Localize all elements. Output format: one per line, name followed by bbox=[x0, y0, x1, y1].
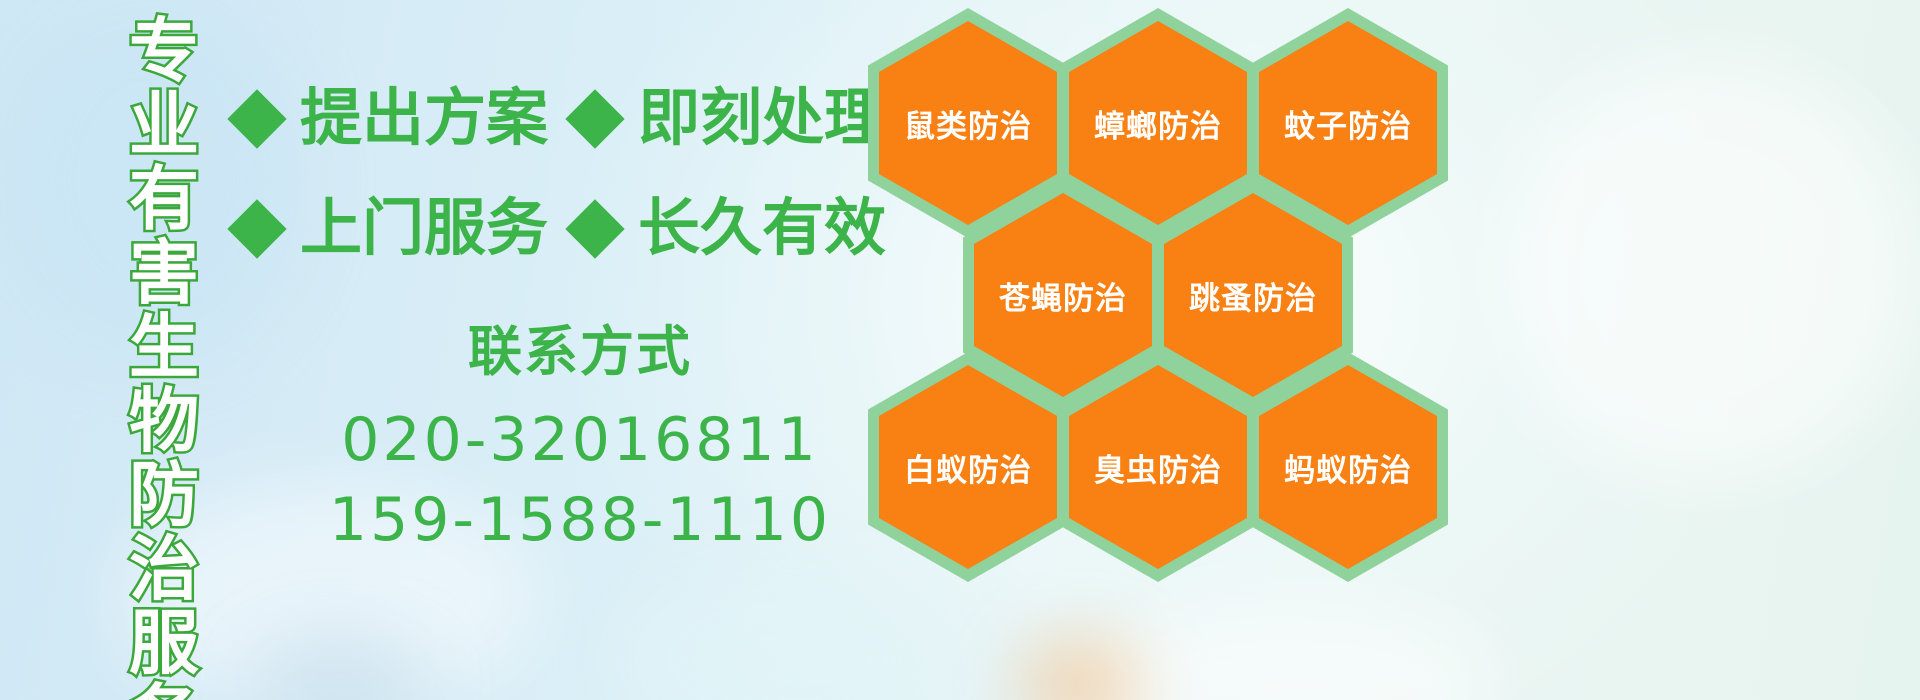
diamond-icon bbox=[565, 199, 624, 258]
service-hex-label: 蟑螂防治 bbox=[1094, 101, 1222, 146]
hex-inner: 蟑螂防治 bbox=[1069, 21, 1247, 225]
vertical-headline-char: 专 bbox=[129, 14, 199, 88]
service-hex-label: 鼠类防治 bbox=[904, 101, 1032, 146]
hex-inner: 跳蚤防治 bbox=[1164, 193, 1342, 397]
vertical-headline-char: 防 bbox=[129, 458, 199, 532]
service-hex-label: 蚊子防治 bbox=[1284, 101, 1412, 146]
feature-line-2: 上门服务 长久有效 bbox=[236, 198, 886, 260]
contact-label: 联系方式 bbox=[300, 318, 860, 386]
hex-inner: 鼠类防治 bbox=[879, 21, 1057, 225]
contact-phone-mobile[interactable]: 159-1588-1110 bbox=[300, 480, 860, 560]
vertical-headline-char: 服 bbox=[129, 606, 199, 680]
service-hex-label: 苍蝇防治 bbox=[999, 273, 1127, 318]
vertical-headline-char: 治 bbox=[129, 532, 199, 606]
hex-inner: 白蚁防治 bbox=[879, 365, 1057, 569]
vertical-headline-char: 有 bbox=[129, 162, 199, 236]
hex-inner: 蚊子防治 bbox=[1259, 21, 1437, 225]
contact-block: 联系方式 020-32016811 159-1588-1110 bbox=[300, 318, 860, 560]
vertical-headline-char: 务 bbox=[129, 680, 199, 700]
diamond-icon bbox=[227, 199, 286, 258]
contact-phone-landline[interactable]: 020-32016811 bbox=[300, 400, 860, 480]
service-hex-label: 跳蚤防治 bbox=[1189, 273, 1317, 318]
hex-inner: 苍蝇防治 bbox=[974, 193, 1152, 397]
background-blob bbox=[1500, 60, 1920, 480]
service-hex-label: 臭虫防治 bbox=[1094, 445, 1222, 490]
vertical-headline-char: 害 bbox=[129, 236, 199, 310]
feature-label-onsite-service: 上门服务 bbox=[300, 198, 548, 260]
feature-label-propose-plan: 提出方案 bbox=[300, 88, 548, 150]
diamond-icon bbox=[227, 89, 286, 148]
feature-label-immediate-handling: 即刻处理 bbox=[638, 88, 886, 150]
service-honeycomb: 鼠类防治 蟑螂防治 蚊子防治 苍蝇防治 跳蚤防治 白蚁防治 bbox=[856, 0, 1476, 700]
vertical-headline-char: 物 bbox=[129, 384, 199, 458]
hex-inner: 臭虫防治 bbox=[1069, 365, 1247, 569]
vertical-headline-char: 业 bbox=[129, 88, 199, 162]
background-blob bbox=[250, 640, 430, 700]
pest-control-banner: 专 业 有 害 生 物 防 治 服 务 提出方案 即刻处理 上门服务 长久有效 … bbox=[0, 0, 1920, 700]
feature-line-1: 提出方案 即刻处理 bbox=[236, 88, 886, 150]
diamond-icon bbox=[565, 89, 624, 148]
hex-inner: 蚂蚁防治 bbox=[1259, 365, 1437, 569]
vertical-headline-char: 生 bbox=[129, 310, 199, 384]
service-hex-label: 白蚁防治 bbox=[904, 445, 1032, 490]
feature-label-long-lasting: 长久有效 bbox=[638, 198, 886, 260]
vertical-headline: 专 业 有 害 生 物 防 治 服 务 bbox=[112, 14, 216, 686]
service-hex-label: 蚂蚁防治 bbox=[1284, 445, 1412, 490]
